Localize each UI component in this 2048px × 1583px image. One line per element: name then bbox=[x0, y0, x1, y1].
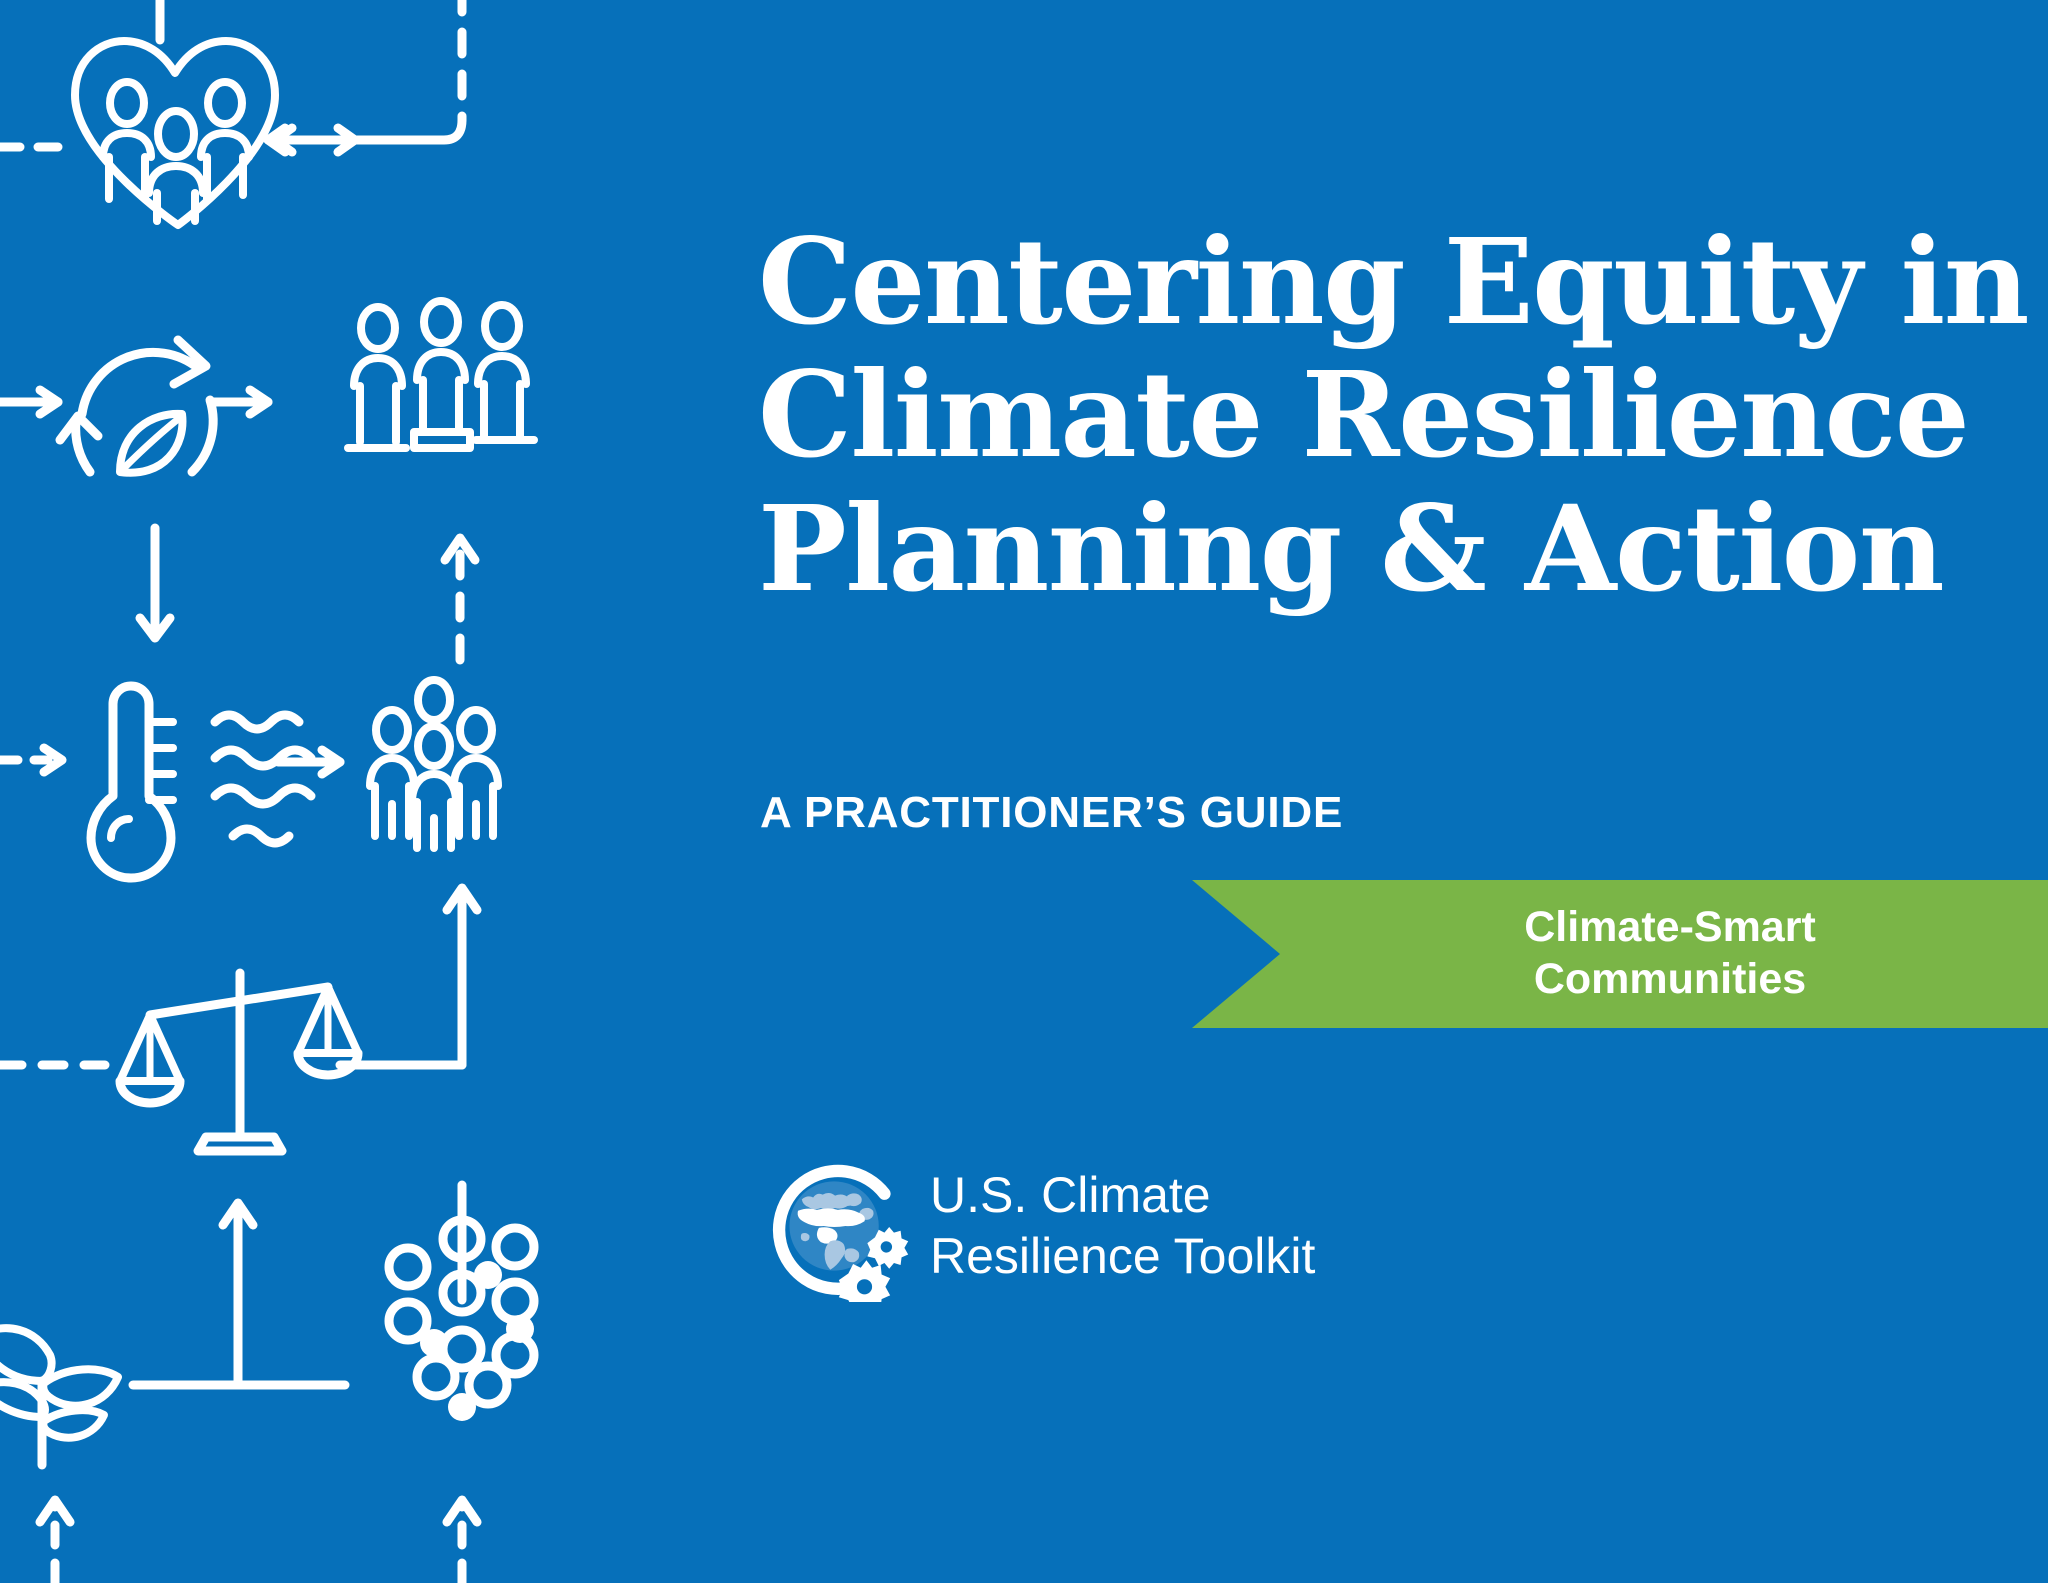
arrow-up-scales bbox=[223, 1203, 253, 1385]
arrow-up-dashed-podium bbox=[445, 538, 475, 660]
page-title-line-2: Climate Resilience bbox=[758, 348, 1988, 481]
recycle-leaf-icon bbox=[60, 340, 213, 473]
ribbon-line-2: Communities bbox=[1534, 954, 1806, 1006]
heart-with-people-icon bbox=[75, 41, 275, 225]
arrow-up-people-group bbox=[447, 888, 477, 1065]
arrow-top-right-dashed bbox=[275, 0, 462, 152]
arrow-down-recycle bbox=[140, 528, 170, 638]
thermometer-heat-waves-icon bbox=[91, 686, 311, 878]
page-title: Centering Equity in Climate Resilience P… bbox=[758, 215, 1988, 615]
cover-illustration bbox=[0, 0, 620, 1583]
globe-gears-icon bbox=[760, 1150, 912, 1302]
wordmark-line-2: Resilience Toolkit bbox=[930, 1226, 1315, 1287]
arrow-recycle-to-podium bbox=[212, 390, 268, 414]
three-people-on-podium-icon bbox=[348, 301, 534, 448]
arrow-right-into-recycle bbox=[0, 390, 58, 414]
ribbon-line-1: Climate-Smart bbox=[1524, 902, 1816, 954]
page-title-line-1: Centering Equity in bbox=[758, 215, 1988, 348]
balance-scales-icon bbox=[120, 973, 358, 1151]
toolkit-logo[interactable]: U.S. Climate Resilience Toolkit bbox=[760, 1150, 1315, 1302]
toolkit-wordmark: U.S. Climate Resilience Toolkit bbox=[930, 1165, 1315, 1287]
ribbon-label: Climate-Smart Communities bbox=[1312, 880, 2028, 1028]
arrow-dashed-into-thermometer bbox=[0, 748, 62, 772]
wordmark-line-1: U.S. Climate bbox=[930, 1165, 1315, 1226]
seedling-icon bbox=[0, 1328, 118, 1465]
document-cover: Centering Equity in Climate Resilience P… bbox=[0, 0, 2048, 1583]
group-of-people-icon bbox=[370, 680, 498, 848]
arrow-up-dashed-dots bbox=[447, 1500, 477, 1583]
cover-text-column: Centering Equity in Climate Resilience P… bbox=[750, 0, 2048, 1583]
arrow-up-dashed-seedling bbox=[40, 1500, 70, 1583]
page-subtitle: A PRACTITIONER’S GUIDE bbox=[760, 788, 1343, 838]
heat-wave-lines bbox=[215, 715, 311, 843]
page-title-line-3: Planning & Action bbox=[758, 482, 1988, 615]
climate-smart-communities-ribbon: Climate-Smart Communities bbox=[1192, 880, 2048, 1028]
